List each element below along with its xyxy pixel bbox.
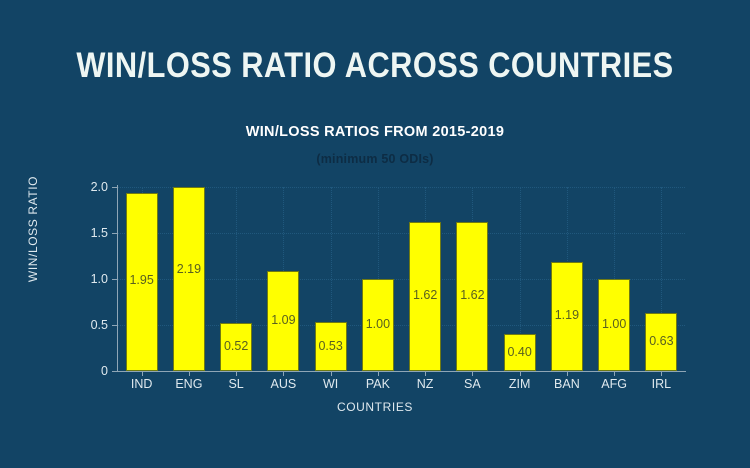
x-axis-tick-mark [378, 371, 379, 376]
x-axis-tick-mark [283, 371, 284, 376]
page-title: WIN/LOSS RATIO ACROSS COUNTRIES [45, 46, 705, 86]
x-axis-tick-mark [614, 371, 615, 376]
bar-eng[interactable] [173, 187, 205, 371]
x-axis-spine [117, 371, 686, 372]
bar-value-label: 1.00 [584, 317, 644, 331]
y-axis-tick-mark [112, 187, 117, 188]
x-axis-tick-mark [236, 371, 237, 376]
chart-title: WIN/LOSS RATIOS FROM 2015-2019 [0, 124, 750, 140]
x-axis-tick-mark [331, 371, 332, 376]
x-axis-tick-label-irl: IRL [626, 377, 696, 391]
y-axis-tick-label: 0.5 [48, 318, 108, 332]
y-axis-tick-labels: 00.51.01.52.0 [42, 0, 108, 468]
chart-subtitle: (minimum 50 ODIs) [0, 152, 750, 166]
x-axis-tick-mark [567, 371, 568, 376]
bar-value-label: 2.19 [159, 262, 219, 276]
bar-value-label: 0.63 [631, 334, 691, 348]
bar-value-label: 0.40 [490, 345, 550, 359]
bar-value-label: 1.00 [348, 317, 408, 331]
x-axis-tick-mark [189, 371, 190, 376]
x-axis-tick-mark [425, 371, 426, 376]
bar-value-label: 0.53 [301, 339, 361, 353]
bar-value-label: 1.09 [253, 313, 313, 327]
y-axis-tick-mark [112, 325, 117, 326]
poster-canvas: WIN/LOSS RATIO ACROSS COUNTRIES WIN/LOSS… [0, 0, 750, 468]
y-axis-tick-label: 0 [48, 364, 108, 378]
x-axis-tick-mark [142, 371, 143, 376]
x-axis-title: COUNTRIES [0, 400, 750, 414]
x-axis-tick-mark [472, 371, 473, 376]
bar-value-label: 1.62 [442, 288, 502, 302]
y-axis-title: WIN/LOSS RATIO [26, 149, 40, 309]
x-axis-tick-mark [520, 371, 521, 376]
y-axis-tick-label: 2.0 [48, 180, 108, 194]
y-axis-tick-mark [112, 371, 117, 372]
y-axis-tick-mark [112, 233, 117, 234]
y-axis-tick-label: 1.5 [48, 226, 108, 240]
bar-value-label: 0.52 [206, 339, 266, 353]
x-axis-tick-mark [661, 371, 662, 376]
y-axis-tick-label: 1.0 [48, 272, 108, 286]
